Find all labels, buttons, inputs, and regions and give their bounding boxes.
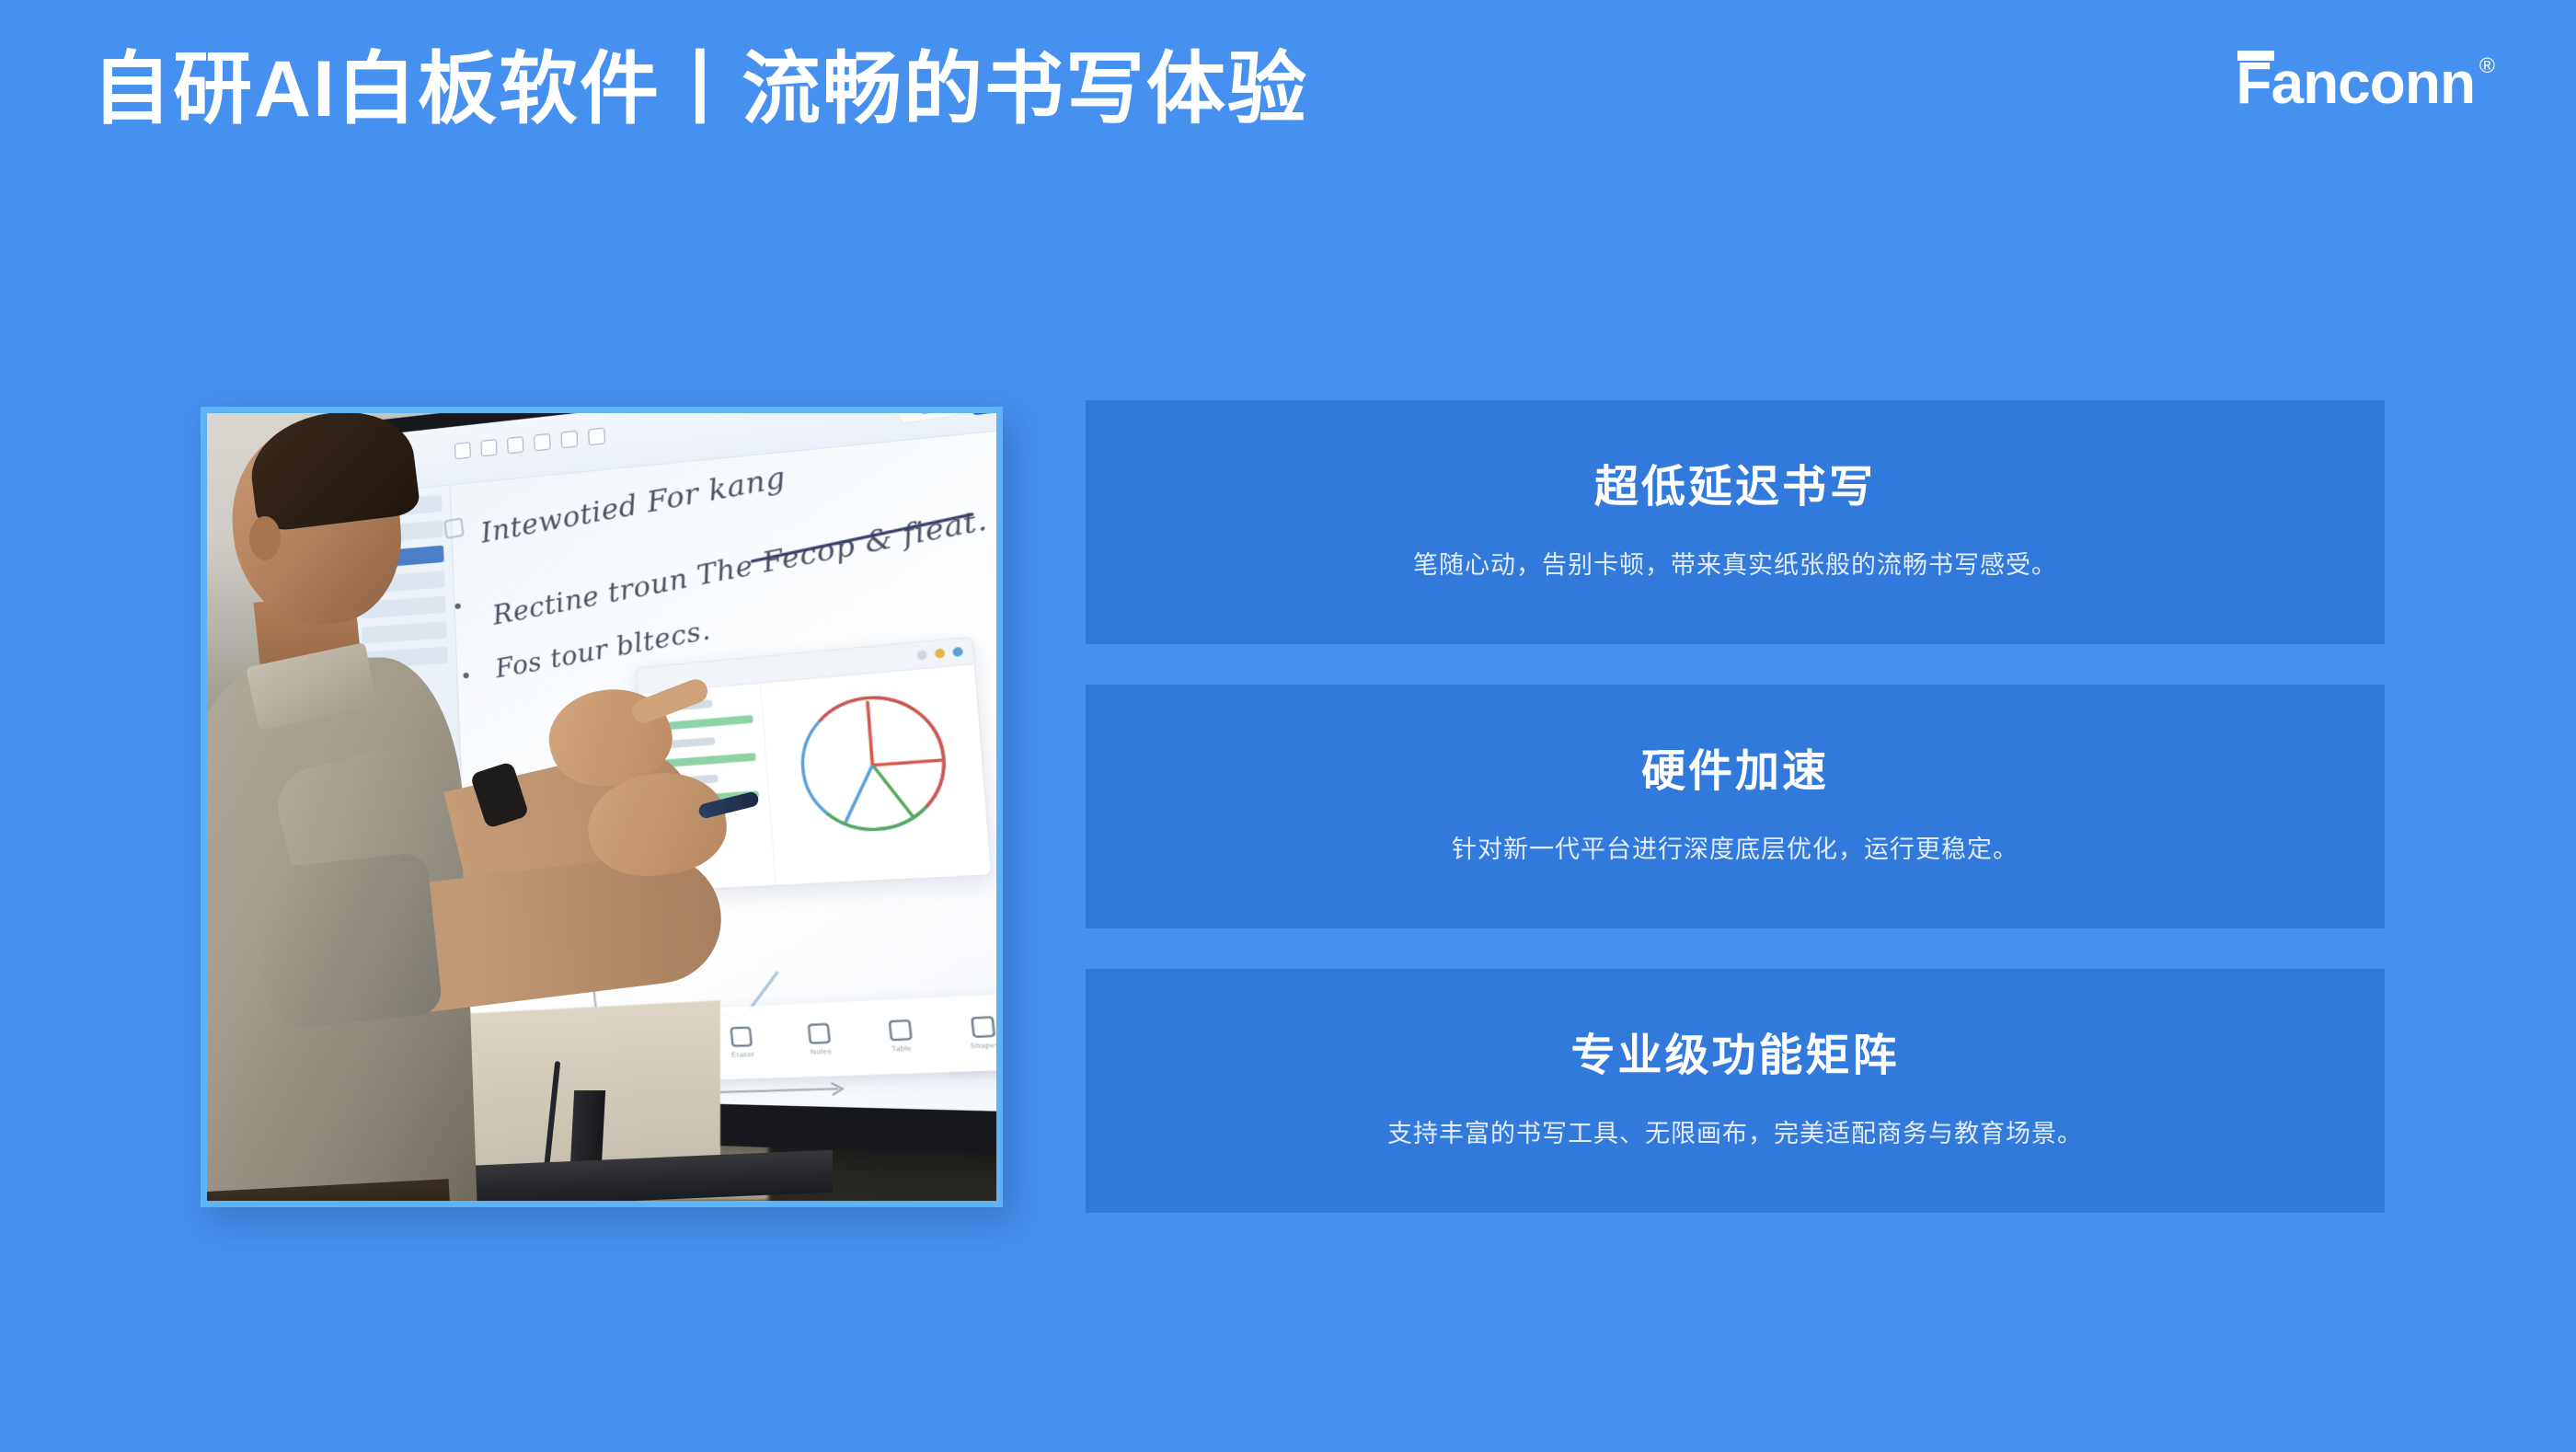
feature-card: 硬件加速 针对新一代平台进行深度底层优化，运行更稳定。	[1086, 685, 2385, 928]
select-icon	[534, 433, 550, 452]
feature-card-list: 超低延迟书写 笔随心动，告别卡顿，带来真实纸张般的流畅书写感受。 硬件加速 针对…	[1086, 400, 2385, 1213]
feature-card-desc: 针对新一代平台进行深度底层优化，运行更稳定。	[1452, 833, 2018, 868]
pie-divider	[844, 765, 874, 824]
brand-logo: Fanconn ®	[2236, 53, 2495, 112]
shapes-icon	[971, 1016, 995, 1038]
feature-card: 专业级功能矩阵 支持丰富的书写工具、无限画布，完美适配商务与教育场景。	[1086, 969, 2385, 1213]
dock-item-label: Table	[891, 1045, 913, 1054]
slide-root: 自研AI白板软件丨流畅的书写体验 Fanconn ®	[0, 0, 2576, 1452]
dock-item-label: Shapes	[970, 1042, 996, 1050]
pie-divider	[871, 764, 915, 818]
eraser-icon	[730, 1026, 753, 1047]
dock-item-label: Eraser	[731, 1052, 755, 1060]
maximize-icon	[935, 649, 946, 659]
feature-card-desc: 支持丰富的书写工具、无限画布，完美适配商务与教育场景。	[1387, 1117, 2083, 1152]
dock-item-label: Notes	[811, 1048, 833, 1056]
person-ear	[249, 516, 281, 560]
grid-icon	[561, 431, 579, 449]
dock-item-table: Table	[857, 997, 946, 1075]
redo-icon	[507, 436, 523, 454]
feature-card: 超低延迟书写 笔随心动，告别卡顿，带来真实纸张般的流畅书写感受。	[1086, 400, 2385, 644]
person-figure	[207, 413, 505, 1201]
table-icon	[888, 1020, 912, 1041]
product-photo: Intewotied For kang Rectine troun The Fe…	[201, 407, 1003, 1207]
brand-wordmark: Fanconn	[2236, 53, 2475, 112]
feature-card-title: 硬件加速	[1641, 745, 1829, 799]
dock-item-note: Notes	[777, 1001, 864, 1077]
minimize-icon	[916, 650, 927, 660]
note-icon	[808, 1023, 831, 1044]
feature-card-desc: 笔随心动，告别卡顿，带来真实纸张般的流畅书写感受。	[1413, 548, 2057, 583]
layers-icon	[588, 428, 605, 446]
feature-card-title: 超低延迟书写	[1594, 461, 1876, 514]
person-sleeve-lower	[252, 852, 443, 1031]
page-title: 自研AI白板软件丨流畅的书写体验	[92, 44, 1308, 135]
window-control-dots	[916, 647, 963, 661]
pie-divider	[872, 758, 942, 766]
registered-trademark-icon: ®	[2479, 55, 2495, 76]
pie-divider	[866, 701, 874, 766]
photo-content: Intewotied For kang Rectine troun The Fe…	[207, 413, 996, 1201]
feature-card-title: 专业级功能矩阵	[1570, 1030, 1899, 1083]
pie-chart	[796, 690, 950, 835]
person-hair	[245, 413, 420, 533]
close-icon	[952, 647, 963, 657]
dock-item-shapes: Shapes	[937, 994, 996, 1072]
